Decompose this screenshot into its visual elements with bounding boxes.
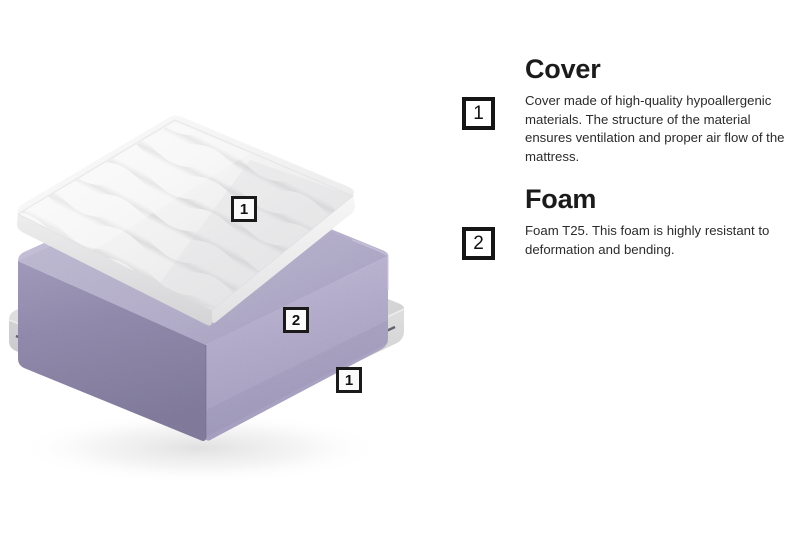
legend-panel: 1 Cover Cover made of high-quality hypoa… (462, 56, 792, 259)
legend-entry-foam: 2 Foam Foam T25. This foam is highly res… (462, 186, 792, 259)
exploded-mattress-illustration: 1 2 1 (0, 0, 450, 533)
image-marker-1: 1 (231, 196, 257, 222)
mattress-diagram-page: 1 2 1 1 Cover Cover made of high-quality… (0, 0, 800, 533)
legend-text-foam: Foam Foam T25. This foam is highly resis… (525, 186, 792, 259)
legend-entry-cover: 1 Cover Cover made of high-quality hypoa… (462, 56, 792, 166)
image-marker-3: 1 (336, 367, 362, 393)
legend-badge-2: 2 (462, 227, 495, 260)
image-marker-2: 2 (283, 307, 309, 333)
legend-heading-foam: Foam (525, 186, 792, 213)
legend-heading-cover: Cover (525, 56, 792, 83)
legend-text-cover: Cover Cover made of high-quality hypoall… (525, 56, 792, 166)
legend-badge-1: 1 (462, 97, 495, 130)
legend-body-cover: Cover made of high-quality hypoallergeni… (525, 92, 787, 166)
legend-body-foam: Foam T25. This foam is highly resistant … (525, 222, 787, 259)
